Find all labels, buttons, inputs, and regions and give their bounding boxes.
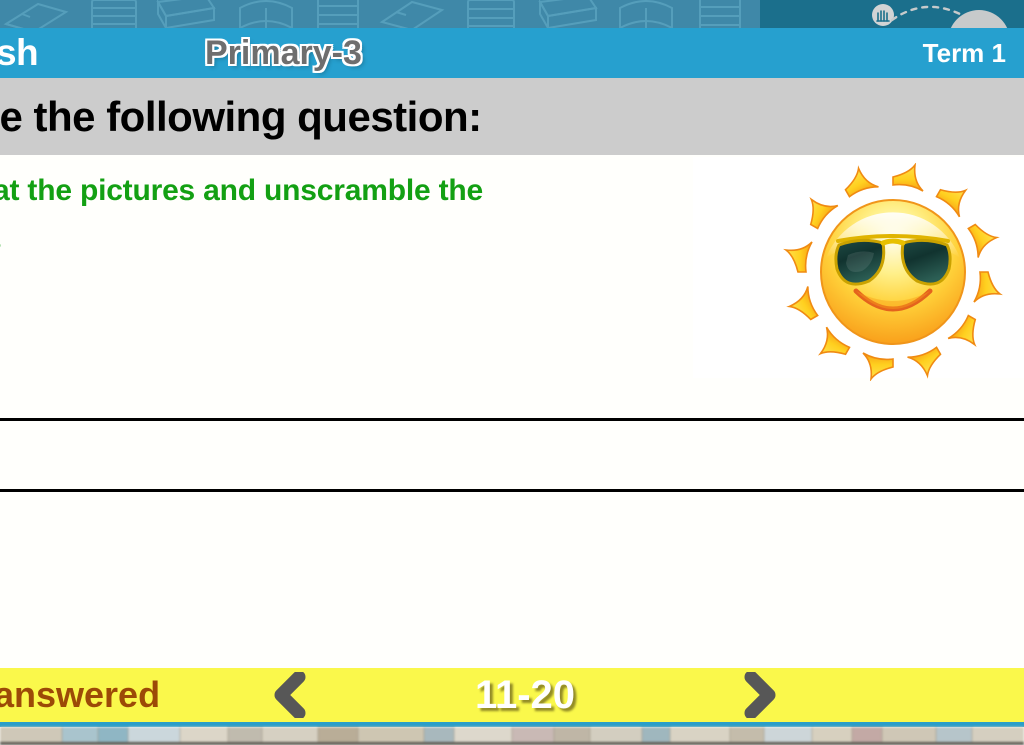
logo-panel bbox=[760, 0, 1024, 28]
term-title: Term 1 bbox=[923, 28, 1006, 78]
previous-page-button[interactable] bbox=[258, 668, 320, 722]
question-prompt-line-1: Look at the pictures and unscramble the bbox=[0, 166, 674, 216]
chevron-left-icon bbox=[271, 672, 307, 718]
sun-with-sunglasses-icon bbox=[782, 163, 1004, 381]
footer-bookshelf-pattern bbox=[0, 727, 1024, 745]
instruction-text: Complete the following question: bbox=[0, 78, 482, 155]
subject-title: English bbox=[0, 28, 38, 78]
question-prompt: Look at the pictures and unscramble the … bbox=[0, 166, 674, 266]
question-prompt-line-2: words bbox=[0, 216, 674, 266]
book-pattern-header bbox=[0, 0, 1024, 28]
answer-divider-line-1 bbox=[0, 418, 1024, 421]
header-bar bbox=[0, 28, 1024, 78]
next-page-button[interactable] bbox=[728, 668, 790, 722]
sun-illustration-svg bbox=[782, 163, 1004, 381]
dashed-arc-icon bbox=[890, 2, 966, 26]
page-range-label: 11-20 bbox=[380, 668, 670, 722]
grade-title: Primary-3 bbox=[205, 28, 362, 78]
answered-status: Not answered bbox=[0, 668, 160, 722]
bookshelf-pattern-icon bbox=[0, 727, 1024, 745]
worksheet-screen: English Primary-3 Term 1 Complete the fo… bbox=[0, 0, 1024, 745]
answer-divider-line-2 bbox=[0, 489, 1024, 492]
chevron-right-icon bbox=[741, 672, 777, 718]
